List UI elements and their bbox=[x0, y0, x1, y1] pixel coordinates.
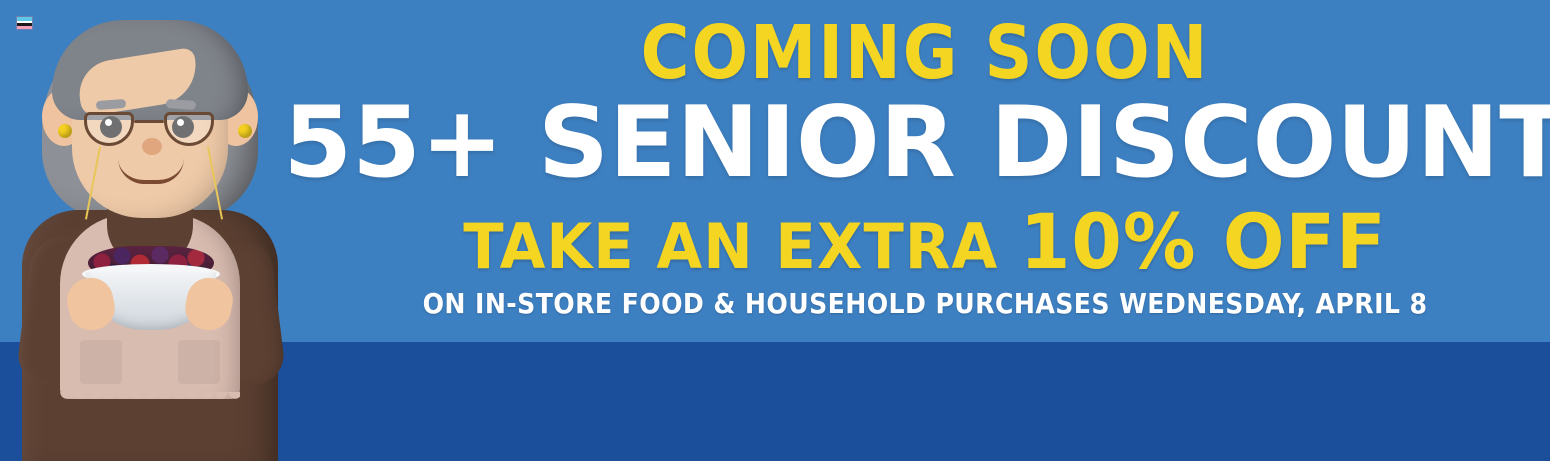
lens-left bbox=[84, 112, 134, 146]
eyebrow-text: COMING SOON bbox=[300, 16, 1550, 90]
earring-left bbox=[58, 124, 72, 138]
nose bbox=[142, 138, 162, 155]
headline-block: COMING SOON 55+ SENIOR DISCOUNT TAKE AN … bbox=[300, 0, 1550, 342]
benefit-card-strip: Use your Food & OTC Benefit Card to shop… bbox=[0, 342, 1550, 461]
offer-terms: ON IN-STORE FOOD & HOUSEHOLD PURCHASES W… bbox=[300, 290, 1550, 318]
glasses-bridge bbox=[134, 120, 164, 123]
page-title: 55+ SENIOR DISCOUNT bbox=[225, 94, 1550, 192]
lens-right bbox=[164, 112, 214, 146]
offer-line: TAKE AN EXTRA 10% OFF bbox=[263, 204, 1550, 280]
offer-amount: 10% OFF bbox=[1020, 197, 1387, 286]
promo-banner: COMING SOON 55+ SENIOR DISCOUNT TAKE AN … bbox=[0, 0, 1550, 461]
offer-prefix: TAKE AN EXTRA bbox=[463, 210, 1020, 283]
